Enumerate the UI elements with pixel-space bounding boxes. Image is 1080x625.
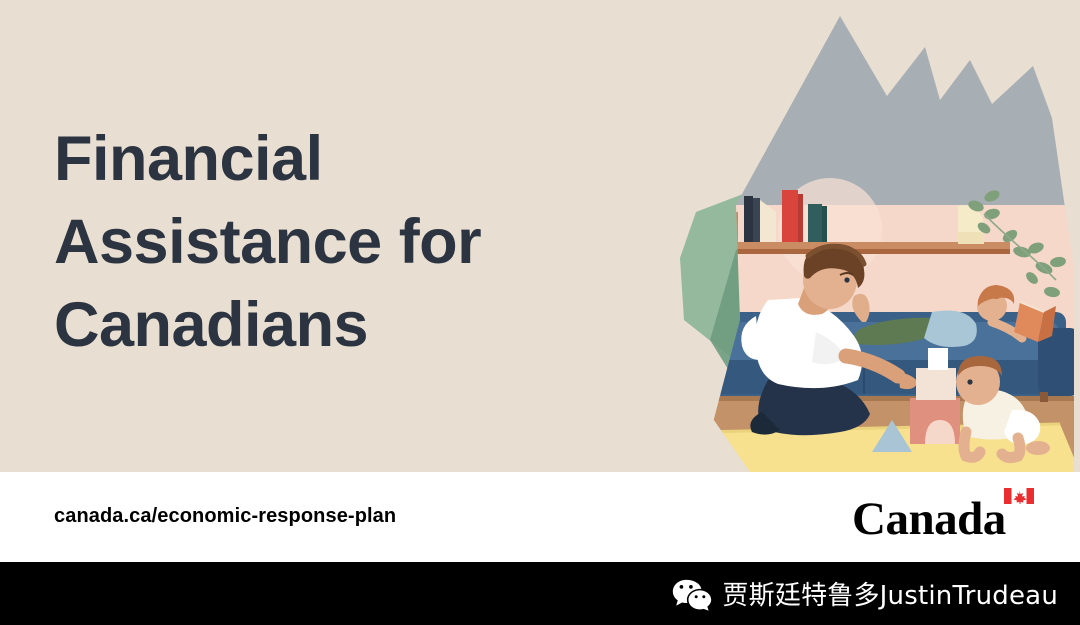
canadian-flag-icon: [1004, 488, 1034, 504]
family-at-home-crown-illustration: [640, 0, 1080, 472]
wechat-icon: [672, 577, 712, 611]
wechat-account[interactable]: 贾斯廷特鲁多JustinTrudeau: [672, 562, 1058, 625]
wechat-account-name: 贾斯廷特鲁多JustinTrudeau: [722, 575, 1058, 612]
footer-bar: canada.ca/economic-response-plan Canada: [0, 472, 1080, 562]
canada-wordmark-text: Canada: [852, 492, 1006, 546]
wechat-attribution-bar: 贾斯廷特鲁多JustinTrudeau: [0, 562, 1080, 625]
canada-wordmark: Canada: [852, 486, 1042, 544]
website-url[interactable]: canada.ca/economic-response-plan: [54, 505, 396, 528]
page-title: Financial Assistance for Canadians: [54, 118, 481, 367]
banner-hero: Financial Assistance for Canadians: [0, 0, 1080, 472]
